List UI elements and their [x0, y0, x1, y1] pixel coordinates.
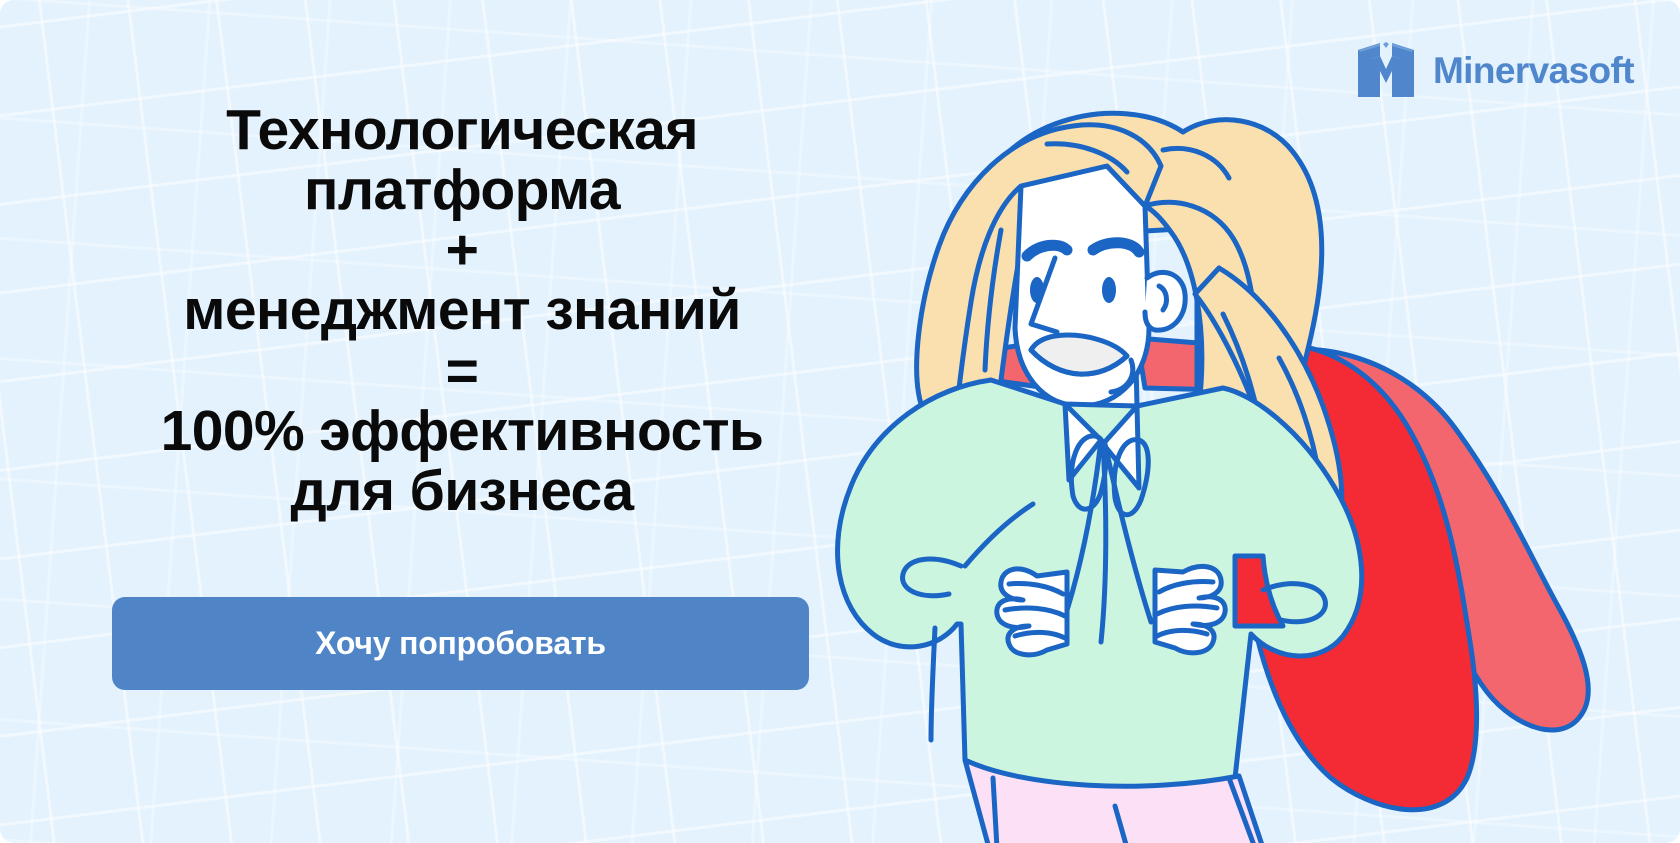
- brand-wordmark: Minervasoft: [1433, 52, 1634, 89]
- brand-logo[interactable]: Minervasoft: [1354, 38, 1634, 102]
- promo-banner: Minervasoft Технологическая платформа + …: [0, 0, 1680, 843]
- try-it-button[interactable]: Хочу попробовать: [112, 597, 809, 690]
- eye-right: [1102, 277, 1116, 303]
- superhero-woman-illustration: [815, 88, 1605, 843]
- headline-text: Технологическая платформа + менеджмент з…: [112, 100, 812, 521]
- open-book-m-logo-icon: [1354, 38, 1418, 102]
